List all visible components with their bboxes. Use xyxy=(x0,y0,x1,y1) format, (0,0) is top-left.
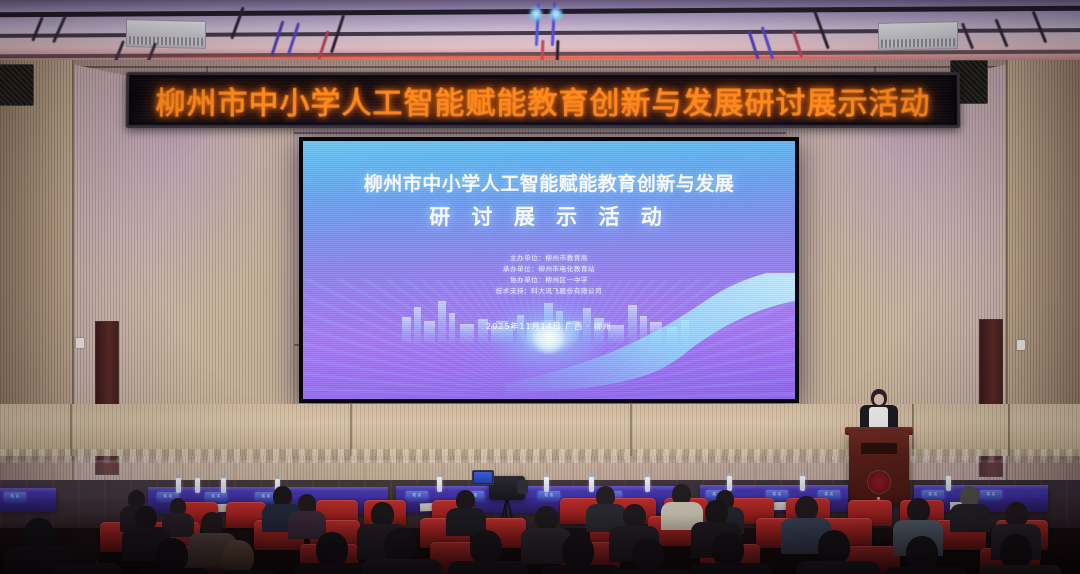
screen-organizer-list: 主办单位：柳州市教育局 承办单位：柳州市电化教育站 协办单位：柳州区一中学 技术… xyxy=(303,253,795,297)
ceiling-vent xyxy=(878,21,958,51)
water-bottle[interactable] xyxy=(544,477,549,492)
front-table-top xyxy=(914,485,1048,489)
front-table-top xyxy=(700,485,848,489)
podium-nameplate xyxy=(861,443,897,454)
led-screen-frame: 柳州市中小学人工智能赋能教育创新与发展 研 讨 展 示 活 动 主办单位：柳州市… xyxy=(299,137,799,403)
led-banner-text: 柳州市中小学人工智能赋能教育创新与发展研讨展示活动 xyxy=(155,78,930,122)
water-bottle[interactable] xyxy=(589,477,594,492)
led-screen: 柳州市中小学人工智能赋能教育创新与发展 研 讨 展 示 活 动 主办单位：柳州市… xyxy=(303,141,795,399)
water-bottle[interactable] xyxy=(727,476,732,491)
wall-switch-plate[interactable] xyxy=(1017,340,1025,350)
water-bottle[interactable] xyxy=(221,478,226,493)
wall-seam xyxy=(0,66,1080,68)
water-bottle[interactable] xyxy=(176,478,181,493)
water-bottle[interactable] xyxy=(437,477,442,492)
screen-date-location: 2025年11月14日 广西 · 柳州 xyxy=(303,321,795,332)
water-bottle[interactable] xyxy=(800,476,805,491)
podium xyxy=(849,431,909,503)
front-table-top xyxy=(148,487,388,491)
organizer-line: 主办单位：柳州市教育局 xyxy=(303,253,795,264)
ceiling-light-streak xyxy=(287,22,300,55)
ceiling-vent xyxy=(126,19,206,49)
ceiling-light-streak xyxy=(271,20,285,55)
water-bottle[interactable] xyxy=(195,478,200,493)
wall-speaker xyxy=(0,64,34,106)
ceiling-light-streak xyxy=(994,19,1008,48)
ceiling-lamp-glow xyxy=(548,6,564,22)
organizer-line: 协办单位：柳州区一中学 xyxy=(303,275,795,286)
water-bottle[interactable] xyxy=(946,476,951,491)
ceiling-light-streak xyxy=(1032,11,1048,44)
screen-title-line1: 柳州市中小学人工智能赋能教育创新与发展 xyxy=(303,169,795,196)
school-crest-icon xyxy=(868,471,890,493)
water-bottle[interactable] xyxy=(645,477,650,492)
led-banner: 柳州市中小学人工智能赋能教育创新与发展研讨展示活动 xyxy=(126,72,961,128)
bottom-vignette xyxy=(0,514,1080,574)
video-camera[interactable] xyxy=(489,476,525,500)
ceiling-light-streak xyxy=(961,22,974,49)
ceiling xyxy=(0,0,1080,66)
ceiling-light-streak xyxy=(31,16,44,41)
screen-title-line2: 研 讨 展 示 活 动 xyxy=(303,201,795,231)
organizer-line: 技术支持：科大讯飞股份有限公司 xyxy=(303,286,795,297)
camera-flip-screen[interactable] xyxy=(472,470,494,485)
ceiling-lamp-glow xyxy=(528,6,544,22)
organizer-line: 承办单位：柳州市电化教育站 xyxy=(303,264,795,275)
wall-switch-plate[interactable] xyxy=(76,338,84,348)
ceiling-light-streak xyxy=(52,15,67,44)
camera-lens-icon xyxy=(517,480,528,494)
auditorium-photo: 柳州市中小学人工智能赋能教育创新与发展研讨展示活动 xyxy=(0,0,1080,574)
